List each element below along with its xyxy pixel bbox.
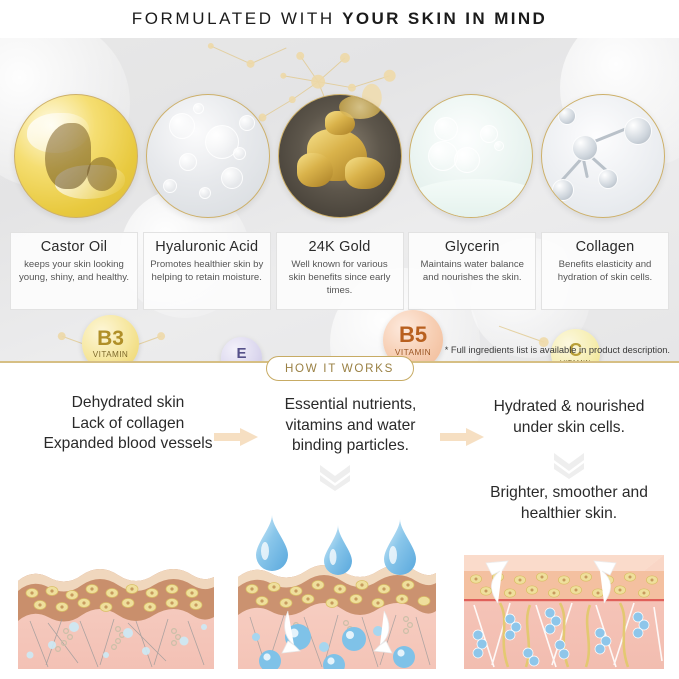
how-it-works-badge: HOW IT WORKS	[266, 356, 414, 381]
ingredient-name: Glycerin	[415, 239, 529, 255]
step-text-2: Essential nutrients,vitamins and waterbi…	[258, 395, 443, 457]
ingredient-description: Well known for various skin benefits sin…	[283, 258, 397, 298]
step-text-1: Dehydrated skinLack of collagenExpanded …	[18, 393, 238, 455]
ingredient-image-24k-gold	[278, 94, 402, 218]
ingredient-image-collagen	[541, 94, 665, 218]
ingredient-image-hyaluronic-acid	[146, 94, 270, 218]
arrow-right-icon	[440, 428, 484, 446]
skin-diagram-absorbing	[238, 515, 436, 669]
page-title: FORMULATED WITH YOUR SKIN IN MIND	[132, 9, 547, 29]
chevron-down-icon	[318, 463, 352, 491]
ingredients-footnote: * Full ingredients list is available in …	[445, 345, 670, 355]
vitamin-badge-b3: B3 VITAMIN	[82, 315, 139, 363]
ingredient-image-row	[0, 94, 679, 218]
ingredient-card-hyaluronic-acid: Hyaluronic Acid Promotes healthier skin …	[143, 232, 271, 310]
ingredients-panel: Castor Oil keeps your skin looking young…	[0, 38, 679, 363]
ingredient-description: Benefits elasticity and hydration of ski…	[548, 258, 662, 284]
vitamin-word: VITAMIN	[395, 348, 431, 356]
skin-diagram-dehydrated: PUFFY EYES DARK CIRCLES FINE LINES	[18, 535, 214, 669]
chevron-down-icon	[552, 451, 586, 479]
vitamin-badge-e: E VITAMIN	[221, 337, 262, 363]
ingredient-image-castor-oil	[14, 94, 138, 218]
vitamin-word: VITAMIN	[228, 362, 255, 363]
step-text-4: Brighter, smoother andhealthier skin.	[462, 483, 676, 524]
page-title-bold: YOUR SKIN IN MIND	[342, 9, 547, 28]
ingredient-name: Collagen	[548, 239, 662, 255]
how-it-works-section: Dehydrated skinLack of collagenExpanded …	[0, 373, 679, 679]
ingredient-description: Promotes healthier skin by helping to re…	[150, 258, 264, 284]
ingredient-description: Maintains water balance and nourishes th…	[415, 258, 529, 284]
ingredient-name: Hyaluronic Acid	[150, 239, 264, 255]
vitamin-word: VITAMIN	[560, 360, 591, 364]
arrow-right-icon	[214, 428, 258, 446]
ingredient-name: Castor Oil	[17, 239, 131, 255]
ingredient-card-castor-oil: Castor Oil keeps your skin looking young…	[10, 232, 138, 310]
ingredient-image-glycerin	[409, 94, 533, 218]
step-text-3: Hydrated & nourishedunder skin cells.	[462, 397, 676, 438]
ingredient-card-glycerin: Glycerin Maintains water balance and nou…	[408, 232, 536, 310]
vitamin-letter: B5	[399, 324, 427, 346]
page-title-light: FORMULATED WITH	[132, 9, 342, 28]
vitamin-letter: E	[236, 346, 246, 361]
vitamin-word: VITAMIN	[93, 351, 128, 359]
header-banner: FORMULATED WITH YOUR SKIN IN MIND	[0, 0, 679, 38]
ingredient-description: keeps your skin looking young, shiny, an…	[17, 258, 131, 284]
vitamin-letter: B3	[97, 328, 124, 349]
ingredient-card-collagen: Collagen Benefits elasticity and hydrati…	[541, 232, 669, 310]
ingredient-name: 24K Gold	[283, 239, 397, 255]
ingredient-card-row: Castor Oil keeps your skin looking young…	[0, 232, 679, 310]
how-it-works-label: HOW IT WORKS	[285, 362, 394, 375]
skin-diagram-hydrated	[464, 549, 664, 669]
ingredient-card-24k-gold: 24K Gold Well known for various skin ben…	[276, 232, 404, 310]
